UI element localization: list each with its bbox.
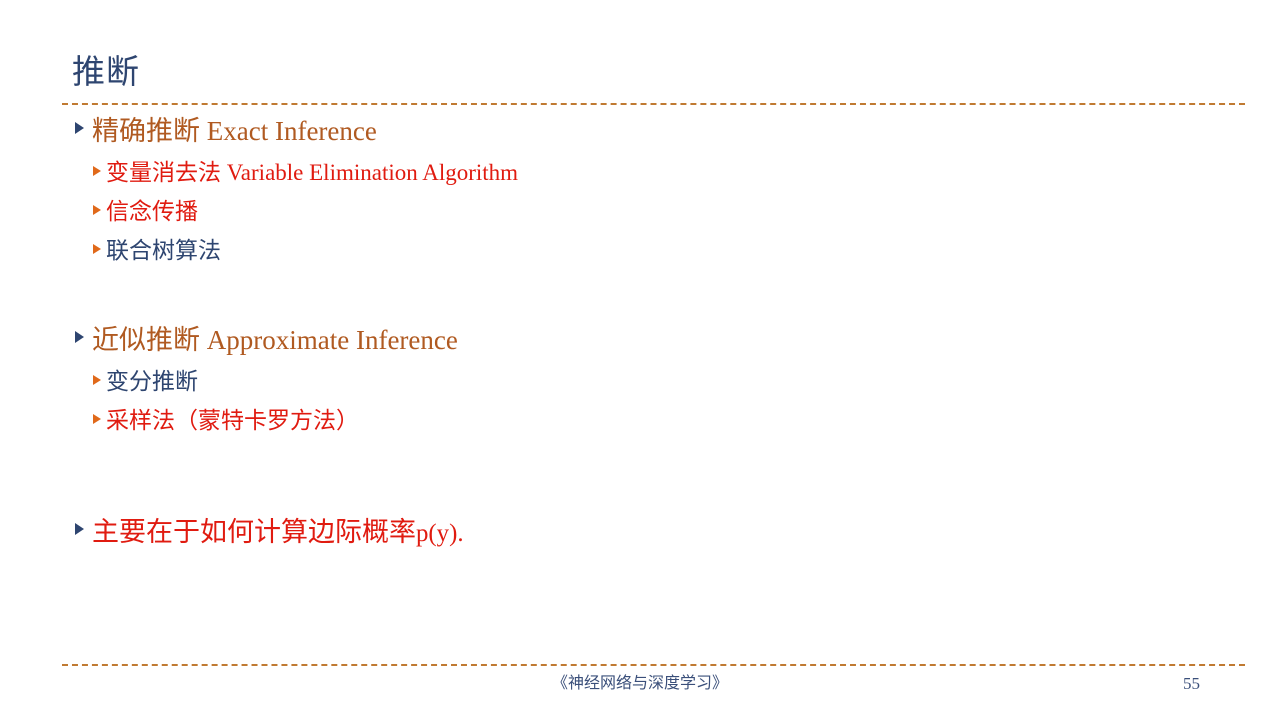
- triangle-right-icon: [75, 331, 84, 343]
- triangle-right-icon: [93, 166, 101, 176]
- heading-label: 精确推断 Exact Inference: [74, 113, 377, 149]
- footer-divider: [62, 664, 1245, 666]
- triangle-right-icon: [93, 244, 101, 254]
- conclusion-spacer: [0, 444, 1280, 514]
- list-item-label: 联合树算法: [92, 235, 221, 267]
- triangle-right-icon: [75, 122, 84, 134]
- footer-book-title: 《神经网络与深度学习》: [0, 673, 1280, 695]
- slide-body: 精确推断 Exact Inference 变量消去法 Variable Elim…: [0, 113, 1280, 558]
- list-item-sampling-monte-carlo: 采样法（蒙特卡罗方法）: [0, 405, 1280, 444]
- list-item-variational-inference: 变分推断: [0, 366, 1280, 405]
- slide-canvas: 推断 精确推断 Exact Inference 变量消去法 Variable E…: [0, 0, 1280, 720]
- list-item-junction-tree: 联合树算法: [0, 235, 1280, 274]
- page-number: 55: [1183, 673, 1200, 695]
- conclusion-text-math: p(y).: [416, 520, 464, 547]
- page-title: 推断: [72, 52, 140, 92]
- list-item-label: 信念传播: [92, 196, 198, 228]
- list-item-conclusion: 主要在于如何计算边际概率p(y).: [0, 514, 1280, 558]
- list-item-belief-propagation: 信念传播: [0, 196, 1280, 235]
- list-item-variable-elimination: 变量消去法 Variable Elimination Algorithm: [0, 157, 1280, 196]
- conclusion-label: 主要在于如何计算边际概率p(y).: [74, 514, 464, 552]
- list-item-heading-exact-inference: 精确推断 Exact Inference: [0, 113, 1280, 157]
- list-item-label: 采样法（蒙特卡罗方法）: [92, 405, 359, 437]
- header-divider: [62, 103, 1245, 105]
- triangle-right-icon: [93, 205, 101, 215]
- triangle-right-icon: [93, 414, 101, 424]
- conclusion-text-cn: 主要在于如何计算边际概率: [92, 517, 416, 547]
- group-spacer: [0, 274, 1280, 322]
- list-item-label: 变分推断: [92, 366, 198, 398]
- triangle-right-icon: [93, 375, 101, 385]
- list-item-label: 变量消去法 Variable Elimination Algorithm: [92, 157, 518, 189]
- heading-label: 近似推断 Approximate Inference: [74, 322, 458, 358]
- list-item-heading-approximate-inference: 近似推断 Approximate Inference: [0, 322, 1280, 366]
- triangle-right-icon: [75, 523, 84, 535]
